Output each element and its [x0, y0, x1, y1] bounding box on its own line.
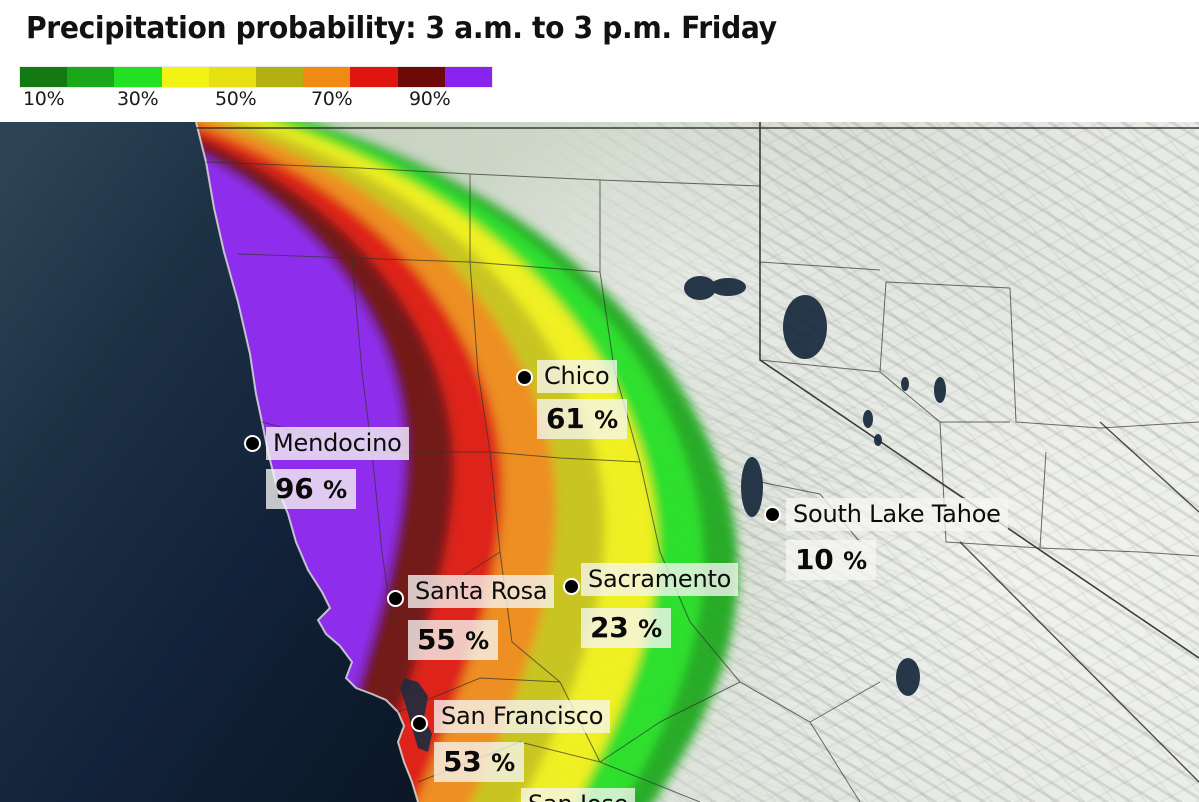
legend-band-8 — [398, 67, 445, 87]
city-dot-sacramento[interactable] — [563, 578, 580, 595]
legend-band-5 — [256, 67, 303, 87]
legend-band-6 — [303, 67, 350, 87]
legend-band-3 — [162, 67, 209, 87]
legend-band-0 — [20, 67, 67, 87]
city-labels-layer: Chico61 %Mendocino96 %South Lake Tahoe10… — [0, 122, 1199, 802]
city-value-number-sacramento: 23 — [590, 611, 638, 644]
legend-tick-10: 10% — [23, 88, 64, 110]
city-value-number-san-francisco: 53 — [443, 745, 491, 778]
map-canvas[interactable]: Chico61 %Mendocino96 %South Lake Tahoe10… — [0, 122, 1199, 802]
city-name-san-francisco: San Francisco — [434, 700, 610, 733]
legend-tick-30: 30% — [117, 88, 158, 110]
graphic-header: Precipitation probability: 3 a.m. to 3 p… — [0, 0, 1199, 122]
city-dot-south-lake-tahoe[interactable] — [764, 506, 781, 523]
legend-band-7 — [350, 67, 397, 87]
city-value-san-francisco: 53 % — [434, 742, 524, 782]
city-value-sacramento: 23 % — [581, 608, 671, 648]
city-value-mendocino: 96 % — [266, 469, 356, 509]
city-name-santa-rosa: Santa Rosa — [408, 575, 554, 608]
weather-map-graphic: Precipitation probability: 3 a.m. to 3 p… — [0, 0, 1199, 802]
legend-color-bar — [19, 66, 493, 88]
city-value-unit-south-lake-tahoe: % — [843, 547, 867, 575]
legend-tick-90: 90% — [409, 88, 450, 110]
city-dot-san-francisco[interactable] — [411, 715, 428, 732]
city-name-san-jose: San Jose — [521, 788, 635, 802]
city-value-chico: 61 % — [537, 399, 627, 439]
page-title: Precipitation probability: 3 a.m. to 3 p… — [26, 11, 777, 46]
legend-band-2 — [114, 67, 161, 87]
city-value-number-south-lake-tahoe: 10 — [795, 543, 843, 576]
city-dot-santa-rosa[interactable] — [387, 590, 404, 607]
legend-tick-labels: 10%30%50%70%90% — [19, 88, 539, 114]
legend-band-1 — [67, 67, 114, 87]
city-value-south-lake-tahoe: 10 % — [786, 540, 876, 580]
city-name-mendocino: Mendocino — [266, 427, 409, 460]
city-name-sacramento: Sacramento — [581, 563, 738, 596]
city-value-number-chico: 61 — [546, 402, 594, 435]
city-value-unit-chico: % — [594, 406, 618, 434]
legend-tick-50: 50% — [215, 88, 256, 110]
city-value-number-mendocino: 96 — [275, 472, 323, 505]
legend-band-9 — [445, 67, 492, 87]
city-dot-mendocino[interactable] — [244, 435, 261, 452]
city-value-unit-mendocino: % — [323, 476, 347, 504]
city-value-number-santa-rosa: 55 — [417, 623, 465, 656]
city-name-south-lake-tahoe: South Lake Tahoe — [786, 498, 1008, 531]
legend-band-4 — [209, 67, 256, 87]
city-value-santa-rosa: 55 % — [408, 620, 498, 660]
city-name-chico: Chico — [537, 360, 617, 393]
city-value-unit-san-francisco: % — [491, 749, 515, 777]
city-value-unit-sacramento: % — [638, 615, 662, 643]
city-dot-chico[interactable] — [516, 369, 533, 386]
legend-tick-70: 70% — [311, 88, 352, 110]
city-value-unit-santa-rosa: % — [465, 627, 489, 655]
